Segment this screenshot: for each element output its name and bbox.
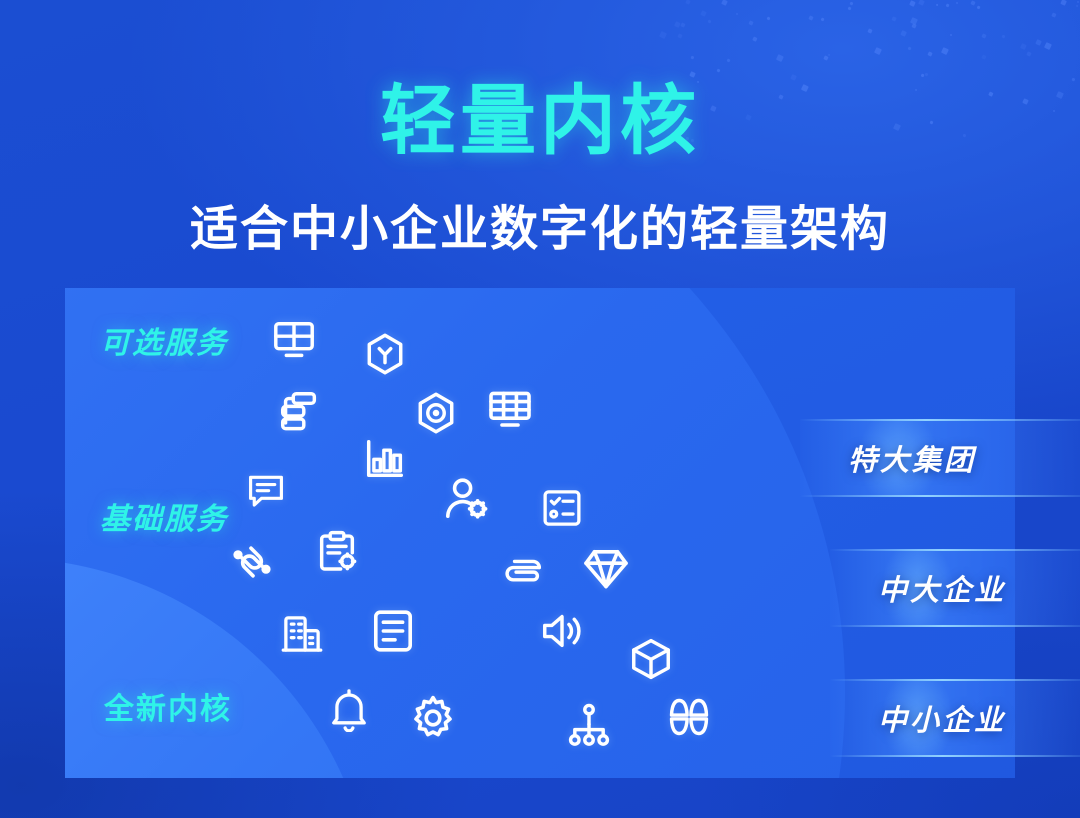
flow-nodes-icon [276, 388, 322, 434]
sitemap-icon [566, 702, 612, 748]
hexagon-target-icon [413, 390, 459, 436]
user-settings-icon [443, 475, 491, 523]
bell-icon [327, 688, 371, 732]
slide-canvas: 轻量内核 适合中小企业数字化的轻量架构 可选服务 基础服务 全新内核 特大集团 … [0, 0, 1080, 818]
paperclip-icon [500, 548, 546, 594]
scale-bar-extra-large-group[interactable]: 特大集团 [800, 419, 1080, 497]
bar-chart-icon [362, 436, 408, 482]
scale-bar-label: 中大企业 [878, 567, 1006, 609]
cube-3d-icon [628, 636, 674, 682]
tier-label-basic-services: 基础服务 [100, 494, 228, 538]
hexagon-y-icon [362, 331, 408, 377]
gear-icon [409, 694, 457, 742]
link-chain-icon [228, 538, 276, 586]
scale-bar-sme[interactable]: 中小企业 [830, 679, 1080, 757]
document-lines-icon [369, 607, 417, 655]
page-subtitle: 适合中小企业数字化的轻量架构 [0, 206, 1080, 254]
checklist-icon [540, 486, 584, 530]
scale-bar-medium-large-enterprise[interactable]: 中大企业 [830, 549, 1080, 627]
page-title: 轻量内核 [0, 84, 1080, 160]
diamond-icon [582, 545, 630, 593]
tier-label-optional-services: 可选服务 [100, 318, 228, 362]
building-icon [280, 612, 324, 656]
volume-speaker-icon [539, 608, 585, 654]
scale-bar-label: 特大集团 [848, 437, 976, 479]
scale-bar-label: 中小企业 [878, 697, 1006, 739]
chat-bubble-icon [245, 470, 287, 512]
dashboard-monitor-icon [271, 318, 317, 364]
clipboard-settings-icon [314, 528, 360, 574]
apps-grid-icon [666, 694, 712, 740]
tier-label-new-kernel: 全新内核 [104, 684, 232, 728]
table-monitor-icon [486, 387, 534, 435]
